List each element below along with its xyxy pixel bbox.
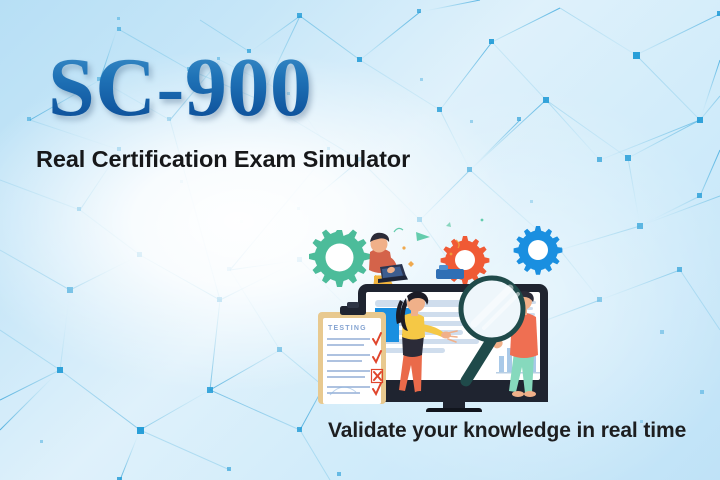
page-title: SC-900 (48, 46, 312, 130)
exam-simulator-illustration: TESTING (296, 212, 596, 412)
clipboard-heading: TESTING (328, 325, 367, 332)
page-subtitle: Real Certification Exam Simulator (36, 146, 410, 173)
page-tagline: Validate your knowledge in real time (328, 419, 686, 443)
checklist-clipboard: TESTING (318, 302, 386, 404)
gear-blue-icon (514, 226, 563, 275)
gear-green-icon (309, 230, 370, 288)
sc900-promo-banner: TESTING (0, 0, 720, 480)
